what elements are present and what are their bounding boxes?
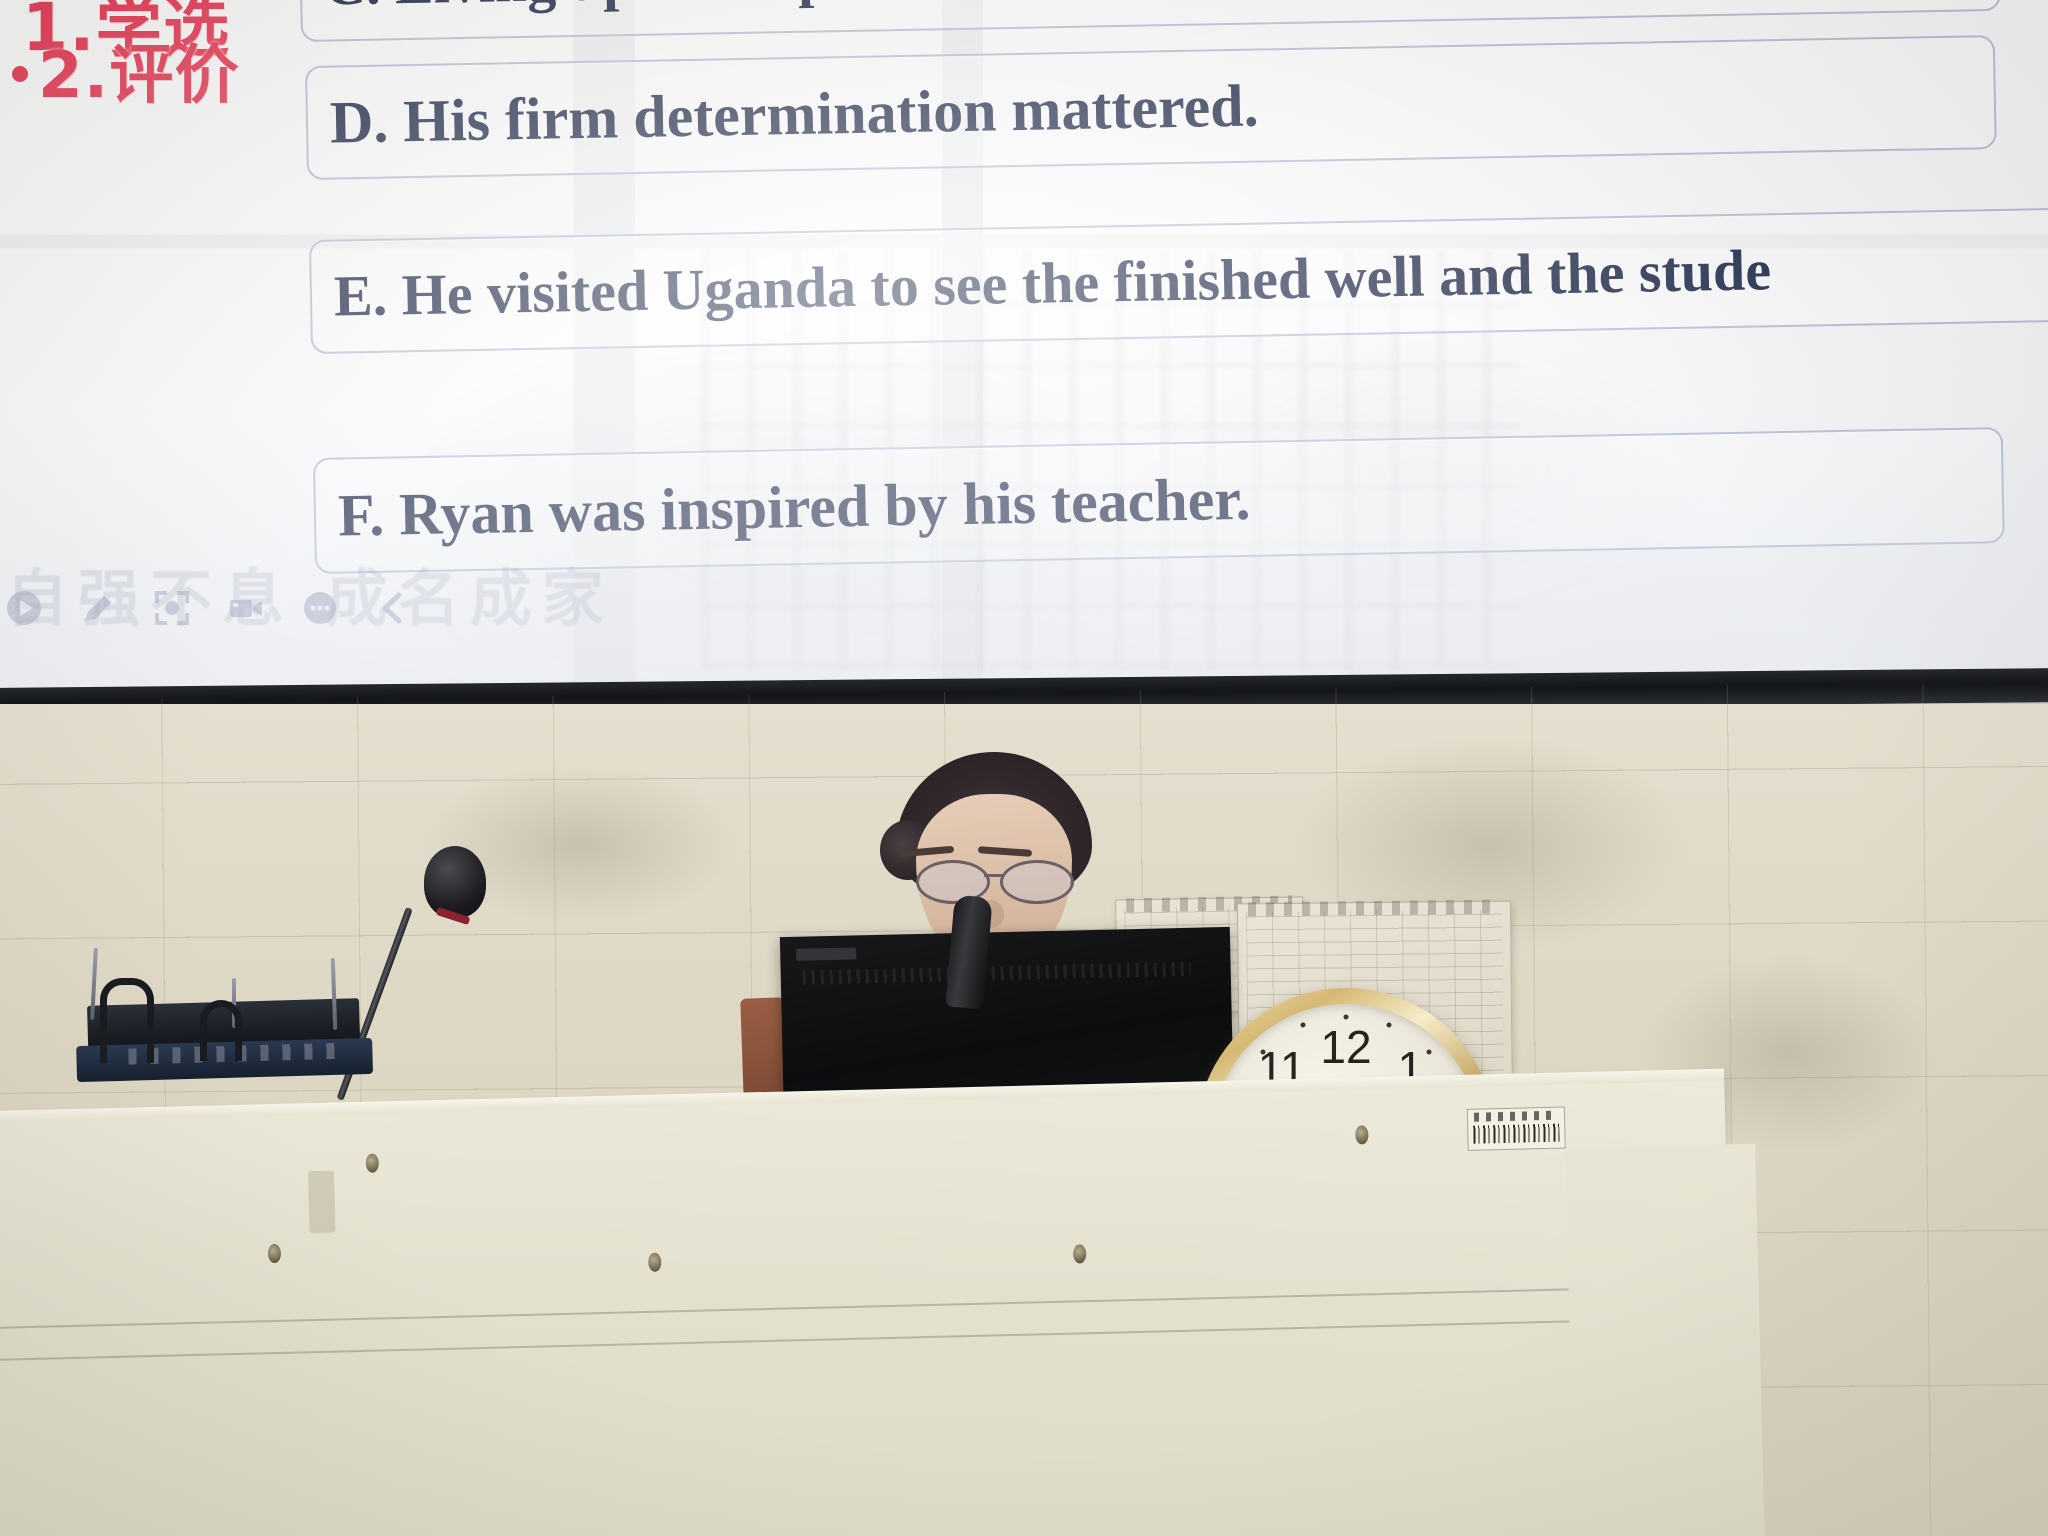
- asset-label-caption: [1474, 1111, 1558, 1122]
- clock-tick: [1301, 1023, 1306, 1028]
- clock-tick: [1427, 1050, 1432, 1055]
- option-d-text: D. His firm determination mattered.: [329, 76, 1259, 153]
- more-icon[interactable]: [300, 588, 340, 628]
- projection-screen: 1.学选 2.评价 C. Living up to his promise. D…: [0, 0, 2048, 690]
- podium-screw: [268, 1244, 281, 1263]
- pen-icon[interactable]: [78, 588, 118, 628]
- option-f-text: F. Ryan was inspired by his teacher.: [337, 469, 1250, 546]
- clock-tick: [1344, 1015, 1349, 1020]
- classroom-scene: 1.学选 2.评价 C. Living up to his promise. D…: [0, 0, 2048, 1536]
- monitor-vent-strip: [803, 962, 1191, 985]
- podium-screw: [1355, 1125, 1368, 1144]
- podium-screw: [1073, 1244, 1086, 1263]
- clock-tick: [1260, 1050, 1265, 1055]
- asset-barcode-bars: [1473, 1124, 1559, 1144]
- option-c-text: C. Living up to his promise.: [323, 0, 1011, 15]
- lens-right: [1000, 860, 1074, 904]
- mixer-cable-loop: [200, 1000, 242, 1061]
- play-icon[interactable]: [4, 588, 44, 628]
- option-d[interactable]: D. His firm determination mattered.: [305, 35, 1997, 180]
- margin-note-2: 2.评价: [12, 24, 240, 116]
- option-e[interactable]: E. He visited Uganda to see the finished…: [309, 208, 2048, 354]
- option-f[interactable]: F. Ryan was inspired by his teacher.: [313, 427, 2005, 574]
- option-e-text: E. He visited Uganda to see the finished…: [333, 241, 1771, 325]
- podium-side-panel: [1565, 1144, 1765, 1536]
- back-icon[interactable]: [374, 588, 414, 628]
- clock-numeral-12: 12: [1320, 1020, 1371, 1074]
- monitor-brand-mark: [796, 947, 856, 960]
- option-c[interactable]: C. Living up to his promise.: [299, 0, 2001, 42]
- podium-screw: [366, 1153, 379, 1172]
- clock-tick: [1386, 1023, 1391, 1028]
- mixer-cable-loop: [100, 978, 154, 1063]
- glasses-icon: [912, 860, 1076, 900]
- gooseneck-microphone-head: [424, 846, 486, 918]
- asset-barcode-label: [1467, 1106, 1566, 1150]
- video-icon[interactable]: [226, 588, 266, 628]
- podium-seam: [0, 1316, 1730, 1361]
- margin-note-2-label: 2.评价: [38, 39, 240, 113]
- bullet-icon: [12, 66, 28, 82]
- glasses-bridge: [984, 874, 1004, 877]
- podium-screw: [648, 1253, 661, 1272]
- podium: [0, 1079, 1735, 1536]
- podium-scuff: [308, 1171, 336, 1234]
- screenshot-icon[interactable]: [152, 588, 192, 628]
- player-toolbar[interactable]: [4, 588, 414, 628]
